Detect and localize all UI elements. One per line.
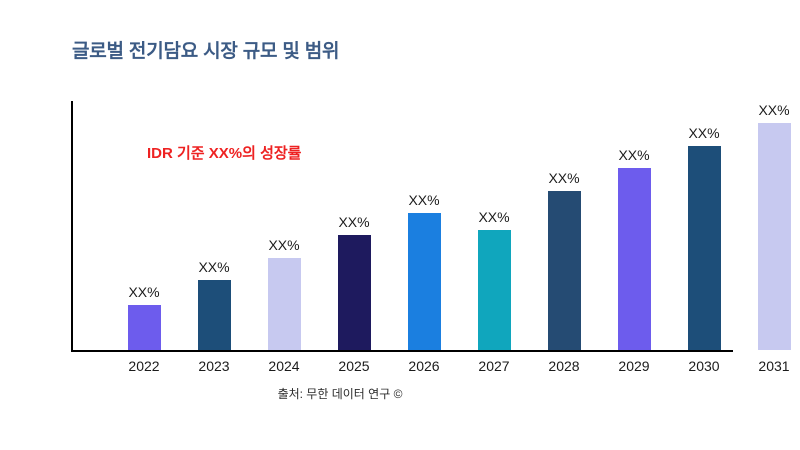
y-axis-line [71,101,73,352]
x-tick-2026: 2026 [389,358,459,374]
x-tick-2022: 2022 [109,358,179,374]
bar-value-label: XX% [128,285,159,299]
bar-2028[interactable] [548,191,581,350]
bar-2022[interactable] [128,305,161,350]
bar-group-2028[interactable]: XX% [529,101,599,350]
x-tick-2023: 2023 [179,358,249,374]
bar-group-2027[interactable]: XX% [459,101,529,350]
bar-2030[interactable] [688,146,721,350]
bar-2031[interactable] [758,123,791,350]
bar-2026[interactable] [408,213,441,350]
x-tick-2027: 2027 [459,358,529,374]
x-tick-2025: 2025 [319,358,389,374]
bar-2027[interactable] [478,230,511,350]
x-tick-2030: 2030 [669,358,739,374]
bar-group-2022[interactable]: XX% [109,101,179,350]
x-tick-2031: 2031 [739,358,800,374]
bar-group-2025[interactable]: XX% [319,101,389,350]
bar-2024[interactable] [268,258,301,350]
bar-value-label: XX% [618,148,649,162]
x-tick-2029: 2029 [599,358,669,374]
bar-group-2029[interactable]: XX% [599,101,669,350]
bar-group-2023[interactable]: XX% [179,101,249,350]
bar-group-2024[interactable]: XX% [249,101,319,350]
bar-value-label: XX% [758,103,789,117]
bar-value-label: XX% [268,238,299,252]
chart-container: 글로벌 전기담요 시장 규모 및 범위 시장 규모 IDR 기준 XX%의 성장… [0,0,800,450]
bar-group-2031[interactable]: XX% [739,101,800,350]
bar-value-label: XX% [338,215,369,229]
bar-value-label: XX% [478,210,509,224]
x-axis-line [71,350,733,352]
bar-2029[interactable] [618,168,651,350]
bar-group-2030[interactable]: XX% [669,101,739,350]
bar-2025[interactable] [338,235,371,350]
x-tick-2024: 2024 [249,358,319,374]
bar-value-label: XX% [548,171,579,185]
source-note: 출처: 무한 데이터 연구 © [0,385,680,402]
x-tick-2028: 2028 [529,358,599,374]
bar-value-label: XX% [408,193,439,207]
bar-group-2026[interactable]: XX% [389,101,459,350]
bar-value-label: XX% [198,260,229,274]
chart-title: 글로벌 전기담요 시장 규모 및 범위 [72,36,339,63]
bar-value-label: XX% [688,126,719,140]
bar-2023[interactable] [198,280,231,350]
plot-area: XX%XX%XX%XX%XX%XX%XX%XX%XX%XX% [71,101,733,352]
